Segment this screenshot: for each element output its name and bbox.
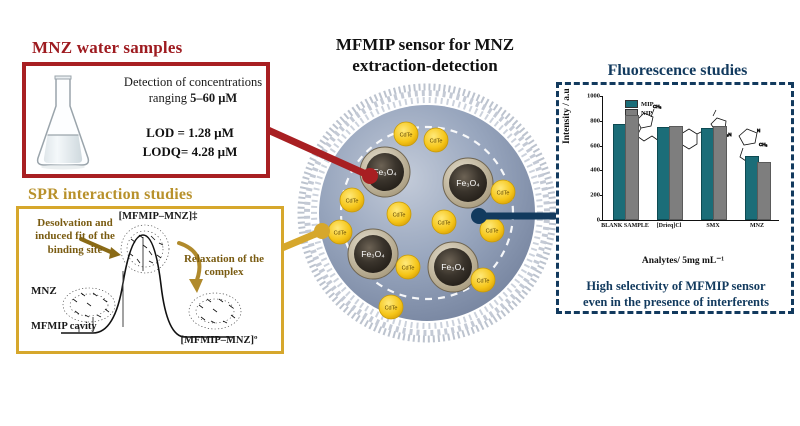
chart-y-tick: 1000: [587, 93, 600, 100]
fluorescence-bar-chart: Intensity / a.u Analytes/ 5mg mL⁻¹ MIPNI…: [566, 92, 784, 267]
molecule-cluster-mnz: [63, 288, 115, 322]
spr-heading: SPR interaction studies: [28, 186, 278, 204]
chart-x-axis-label: Analytes/ 5mg mL⁻¹: [588, 255, 778, 266]
svg-text:N: N: [757, 128, 760, 133]
spr-mnz-label: MNZ: [31, 285, 57, 297]
chart-bar: [669, 126, 683, 220]
connector-gold: [282, 232, 320, 248]
spr-desolvation-label: Desolvation and induced fit of the bindi…: [23, 217, 127, 257]
chart-bar: [757, 162, 771, 220]
spr-transition-state-label: [MFMIP–MNZ]‡: [103, 211, 213, 222]
chart-plot-area: MIPNIP CH₃ CH₃ Cl⁻ H₂N N: [602, 96, 779, 221]
chart-y-tick-mark: [600, 220, 603, 221]
chart-y-tick: 800: [590, 117, 600, 124]
spr-cavity-label: MFMIP cavity: [31, 321, 97, 332]
spr-relaxation-label: Relaxation of the complex: [171, 253, 277, 280]
detection-line1: Detection of concentrations: [124, 75, 262, 89]
erlenmeyer-flask-icon: [30, 72, 96, 172]
chart-y-tick-mark: [600, 170, 603, 171]
lodq-value: LODQ= 4.28 µM: [110, 143, 270, 162]
detection-line2-prefix: ranging: [149, 91, 190, 105]
chart-bar: [625, 115, 639, 220]
connector-red: [268, 130, 368, 175]
chart-y-tick-mark: [600, 195, 603, 196]
chart-y-tick: 600: [590, 142, 600, 149]
spr-ground-state-label: [MFMIP–MNZ]º: [159, 335, 279, 346]
molecule-cluster-ground: [189, 293, 241, 329]
chart-x-tick: [Drieq]Cl: [645, 223, 693, 230]
molecule-cluster-transition: [121, 225, 169, 273]
chart-y-axis-label: Intensity / a.u: [562, 88, 572, 144]
fluorescence-heading: Fluorescence studies: [570, 62, 785, 80]
water-samples-heading: MNZ water samples: [32, 38, 252, 58]
chart-y-tick-mark: [600, 96, 603, 97]
chart-x-tick: BLANK SAMPLE: [601, 223, 649, 230]
chart-x-tick: SMX: [689, 223, 737, 230]
caption-line1: High selectivity of MFMIP sensor: [560, 278, 792, 294]
chart-y-tick: 400: [590, 167, 600, 174]
caption-line2: even in the presence of interferents: [560, 294, 792, 310]
chart-y-tick-mark: [600, 146, 603, 147]
lod-value: LOD = 1.28 µM: [110, 124, 270, 143]
detection-range: 5–60 µM: [190, 91, 237, 105]
svg-text:CH₃: CH₃: [759, 142, 767, 147]
chart-y-tick: 200: [590, 192, 600, 199]
detection-text: Detection of concentrations ranging 5–60…: [118, 74, 268, 106]
chart-bar: [713, 126, 727, 220]
chart-x-tick: MNZ: [733, 223, 781, 230]
spr-panel: Desolvation and induced fit of the bindi…: [16, 206, 284, 354]
svg-text:CH₃: CH₃: [653, 104, 661, 109]
chart-y-tick-mark: [600, 121, 603, 122]
fluorescence-caption: High selectivity of MFMIP sensor even in…: [560, 278, 792, 311]
lod-values: LOD = 1.28 µM LODQ= 4.28 µM: [110, 124, 270, 162]
